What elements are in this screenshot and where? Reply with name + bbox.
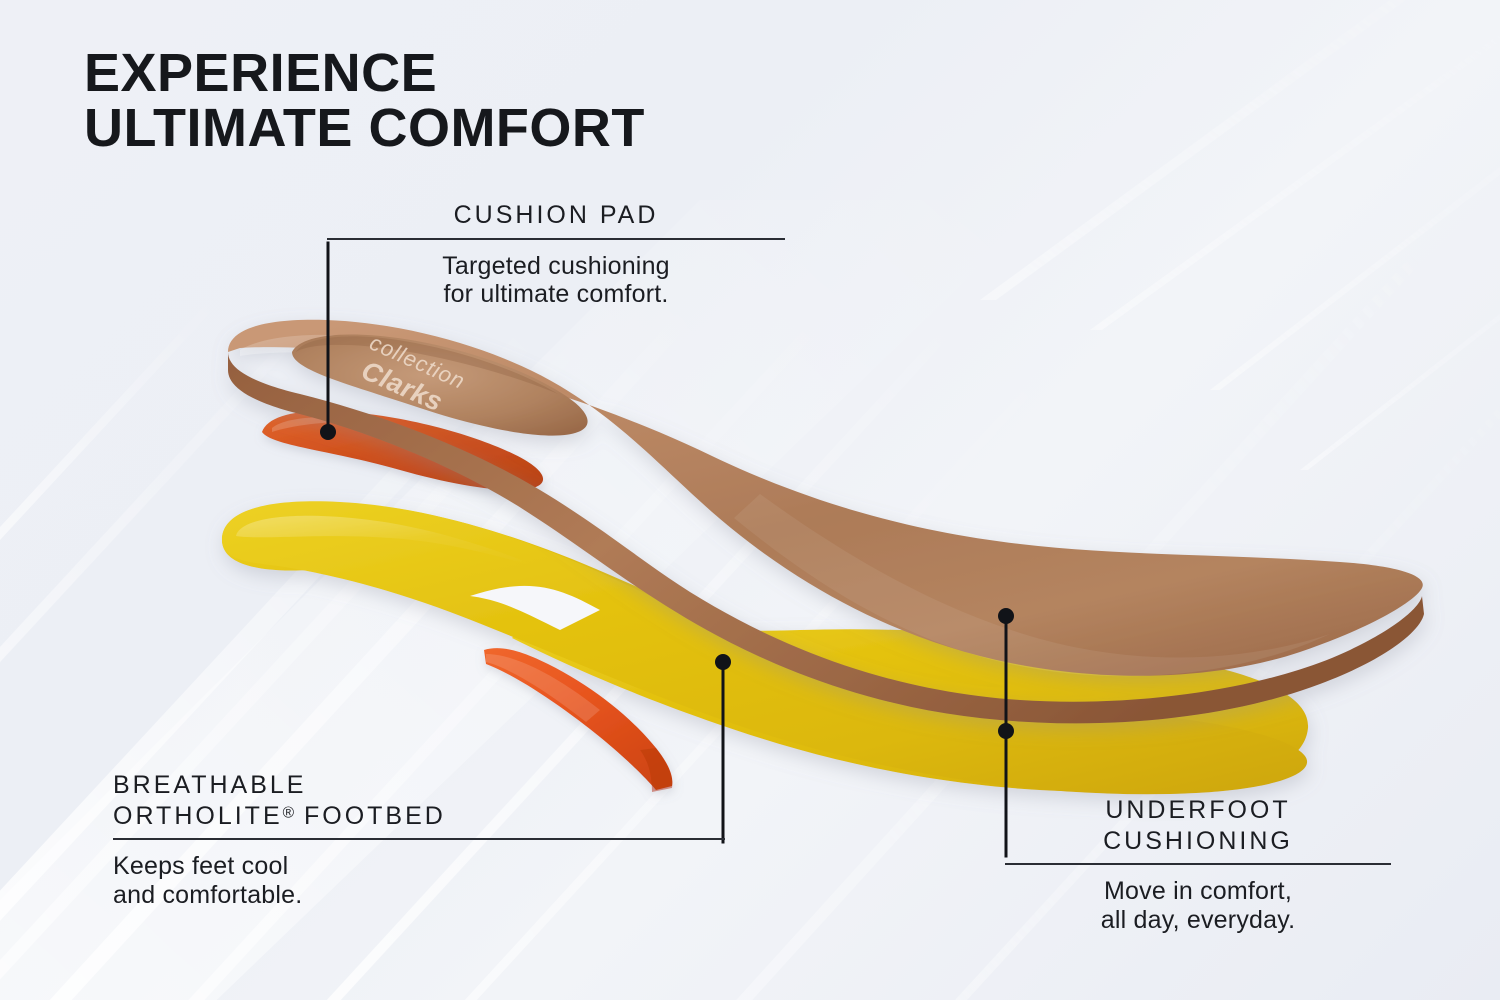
callout-cushion-pad: CUSHION PAD Targeted cushioning for ulti… bbox=[327, 200, 785, 309]
callout-ortholite-rule bbox=[113, 838, 725, 840]
callout-underfoot-cushioning: UNDERFOOT CUSHIONING Move in comfort, al… bbox=[1005, 795, 1391, 934]
callout-underfoot-rule bbox=[1005, 863, 1391, 865]
callout-cushion-pad-description: Targeted cushioning for ultimate comfort… bbox=[327, 252, 785, 309]
callout-underfoot-description: Move in comfort, all day, everyday. bbox=[1005, 877, 1391, 934]
registered-trademark-icon: ® bbox=[283, 804, 294, 821]
callout-ortholite-title-tail: FOOTBED bbox=[294, 802, 446, 830]
callout-ortholite-footbed: BREATHABLE ORTHOLITE® FOOTBED Keeps feet… bbox=[113, 770, 725, 909]
page-title: EXPERIENCE ULTIMATE COMFORT bbox=[84, 46, 645, 156]
callout-cushion-pad-title: CUSHION PAD bbox=[327, 200, 785, 231]
callout-ortholite-title: BREATHABLE ORTHOLITE® FOOTBED bbox=[113, 770, 725, 831]
callout-ortholite-description: Keeps feet cool and comfortable. bbox=[113, 852, 725, 909]
callout-underfoot-title: UNDERFOOT CUSHIONING bbox=[1005, 795, 1391, 856]
infographic-canvas: collection Clarks EXPERIENCE ULTIMATE CO… bbox=[0, 0, 1500, 1000]
callout-cushion-pad-rule bbox=[327, 238, 785, 240]
callout-ortholite-title-main: BREATHABLE ORTHOLITE bbox=[113, 771, 306, 830]
